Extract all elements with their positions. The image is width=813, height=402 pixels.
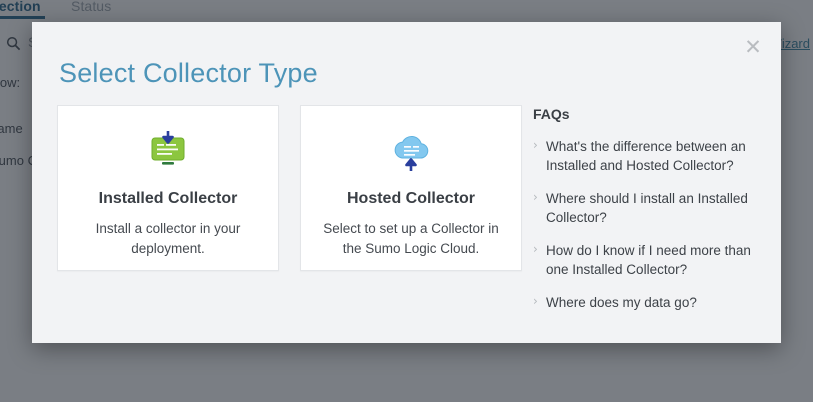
installed-collector-icon [144,130,192,174]
chevron-right-icon: › [533,292,538,311]
chevron-right-icon: › [533,136,538,155]
faq-item[interactable]: › Where should I install an Installed Co… [533,189,758,227]
faq-item-label: What's the difference between an Install… [546,139,746,173]
screen: Collection Status Search Show: Name Sumo… [0,0,813,402]
card-description-hosted: Select to set up a Collector in the Sumo… [321,219,501,259]
faq-item[interactable]: › Where does my data go? [533,293,758,312]
faq-heading: FAQs [533,106,758,122]
select-collector-type-dialog: ✕ Select Collector Type Installed Collec… [32,22,781,343]
faq-item-label: How do I know if I need more than one In… [546,243,751,277]
card-installed-collector[interactable]: Installed Collector Install a collector … [57,105,279,271]
hosted-collector-icon [387,130,435,174]
card-description-installed: Install a collector in your deployment. [78,219,258,259]
card-hosted-collector[interactable]: Hosted Collector Select to set up a Coll… [300,105,522,271]
faq-item-label: Where does my data go? [546,295,697,310]
faq-section: FAQs › What's the difference between an … [533,106,758,326]
chevron-right-icon: › [533,240,538,259]
faq-item[interactable]: › What's the difference between an Insta… [533,137,758,175]
chevron-right-icon: › [533,188,538,207]
dialog-title: Select Collector Type [59,58,318,89]
collector-type-cards: Installed Collector Install a collector … [57,105,522,271]
faq-item-label: Where should I install an Installed Coll… [546,191,748,225]
faq-item[interactable]: › How do I know if I need more than one … [533,241,758,279]
card-title-installed: Installed Collector [99,190,238,208]
close-icon[interactable]: ✕ [741,35,765,59]
card-title-hosted: Hosted Collector [347,190,475,208]
